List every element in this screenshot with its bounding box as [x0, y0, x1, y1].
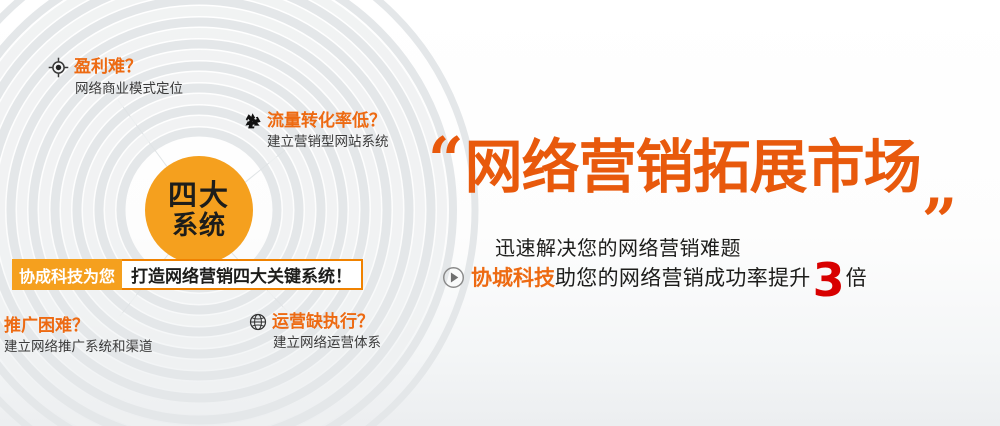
headline-block: “ 网络营销拓展市场 „ 迅速解决您的网络营销难题 协城科技 助您的网络营销成功… — [420, 0, 1000, 426]
headline-row: “ 网络营销拓展市场 „ — [428, 138, 958, 196]
feature-subtitle: 网络商业模式定位 — [75, 81, 183, 97]
ribbon-message-label: 打造网络营销四大关键系统！ — [122, 259, 363, 290]
center-badge-line2: 系统 — [172, 213, 226, 240]
feature-title: 推广困难？ — [4, 317, 89, 336]
feature-title: 运营缺执行？ — [272, 313, 374, 332]
feature-item-conversion[interactable]: 流量转化率低？ 建立营销型网站系统 — [243, 112, 389, 150]
feature-subtitle: 建立网络推广系统和渠道 — [4, 339, 153, 355]
recycle-icon — [243, 112, 262, 131]
tagline-ribbon: 协成科技为您 打造网络营销四大关键系统！ — [12, 259, 363, 290]
feature-subtitle: 建立营销型网站系统 — [267, 134, 389, 150]
globe-icon — [249, 313, 267, 331]
feature-item-promotion[interactable]: 推广困难？ 建立网络推广系统和渠道 — [4, 317, 153, 355]
play-circle-icon — [442, 266, 465, 289]
multiplier-number: 3 — [813, 263, 845, 298]
multiplier-unit: 倍 — [846, 262, 867, 292]
subheadline-text: 助您的网络营销成功率提升 — [555, 262, 811, 292]
center-badge: 四大 系统 — [145, 156, 253, 264]
feature-title: 盈利难？ — [74, 58, 142, 77]
feature-title: 流量转化率低？ — [267, 112, 386, 131]
target-crosshair-icon — [48, 57, 69, 78]
feature-subtitle: 建立网络运营体系 — [273, 335, 381, 351]
subheadline-line1: 迅速解决您的网络营销难题 — [495, 232, 741, 261]
center-badge-line1: 四大 — [168, 180, 230, 210]
page-title: 网络营销拓展市场 — [465, 138, 921, 196]
marketing-banner: 四大 系统 盈利难？ 网络商业模式定位 — [0, 0, 1000, 426]
four-systems-diagram: 四大 系统 盈利难？ 网络商业模式定位 — [0, 0, 430, 426]
subheadline-line2: 协城科技 助您的网络营销成功率提升 3 倍 — [442, 260, 867, 295]
quote-open-icon: “ — [428, 138, 464, 183]
ribbon-brand-label: 协成科技为您 — [12, 259, 122, 290]
brand-name: 协城科技 — [471, 262, 555, 292]
feature-item-profit[interactable]: 盈利难？ 网络商业模式定位 — [48, 57, 183, 97]
feature-item-operation[interactable]: 运营缺执行？ 建立网络运营体系 — [249, 313, 381, 351]
quote-close-icon: „ — [923, 175, 959, 196]
